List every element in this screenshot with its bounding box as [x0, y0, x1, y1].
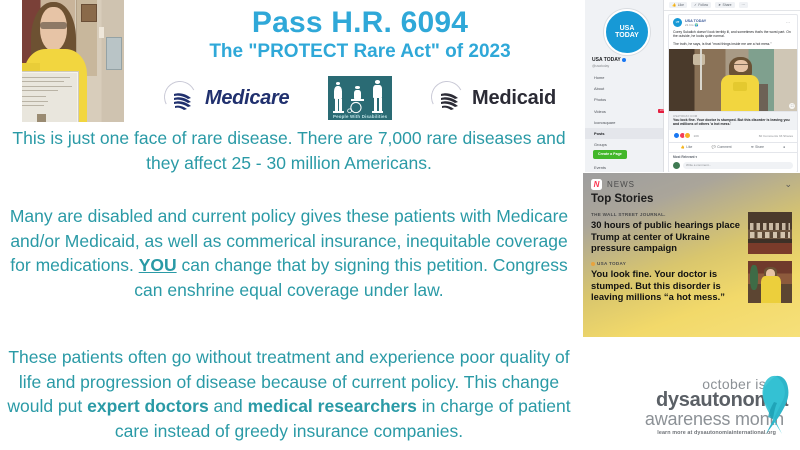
post-text-line-2: The truth, he says, is that "most things… [669, 41, 797, 49]
post-action-bar: 👍Like 💬Comment ➥Share ● [669, 143, 797, 153]
news-story-headline: You look fine. Your doctor is stumped. B… [591, 268, 741, 303]
thumbs-up-icon: 👍 [681, 145, 685, 149]
care-reaction-icon [684, 132, 691, 139]
news-story-source: USA TODAY [591, 261, 741, 266]
facebook-feed: UT USA TODAY 21 hrs 🌍 ⋯ Corey Sukalich d… [664, 12, 800, 172]
post-like-button[interactable]: 👍Like [681, 145, 693, 149]
post-send-button[interactable]: ● [783, 145, 785, 149]
news-widget-header: N NEWS ⌄ [583, 173, 800, 192]
agency-logo-row: Medicare People With Disabilities [150, 74, 570, 122]
post-menu-icon[interactable]: ⋯ [786, 20, 793, 25]
fb-like-page-button[interactable]: 👍Like [669, 2, 687, 8]
comment-input[interactable]: Write a comment... [683, 162, 793, 169]
top-stories-title: Top Stories [583, 192, 800, 209]
post-avatar: UT [673, 18, 682, 27]
comment-sort-selector[interactable]: Most Relevant ▾ [669, 153, 797, 161]
awareness-ribbon-icon [754, 374, 798, 436]
create-a-page-button[interactable]: Create a Page [593, 150, 627, 159]
fb-nav-label: Home [594, 75, 604, 80]
fb-nav-item-groups[interactable]: Groups [585, 139, 663, 150]
story-thumbnail[interactable] [748, 212, 792, 254]
apple-news-icon: N [591, 179, 602, 190]
page-handle: @usatoday [592, 64, 609, 68]
paragraph-two: Many are disabled and current policy giv… [0, 204, 578, 302]
fb-nav-item-videos[interactable]: VideosLIVE [585, 106, 663, 117]
fb-nav-item-iconosquare[interactable]: Iconosquare [585, 117, 663, 128]
medicaid-logo: Medicaid [431, 79, 556, 117]
facebook-screenshot: 👍Like ✓Follow ➤Share ··· USA TODAY USA T… [585, 0, 800, 172]
news-story-text: USA TODAYYou look fine. Your doctor is s… [591, 261, 741, 303]
paragraph-three-mid: and [209, 396, 248, 416]
facebook-page-actionbar: 👍Like ✓Follow ➤Share ··· [663, 0, 800, 11]
viewer-avatar [673, 162, 680, 169]
share-arrow-icon: ➥ [751, 145, 754, 149]
post-header: UT USA TODAY 21 hrs 🌍 ⋯ [669, 15, 797, 28]
news-story-list: THE WALL STREET JOURNAL.30 hours of publ… [583, 209, 800, 307]
apple-news-widget: N NEWS ⌄ Top Stories THE WALL STREET JOU… [583, 173, 800, 337]
post-share-button[interactable]: ➥Share [751, 145, 764, 149]
dysautonomia-awareness-logo: october is dysautonomia awareness month … [600, 372, 800, 442]
post-link-preview[interactable]: USATODAY.COM You look fine. Your doctor … [669, 111, 797, 130]
paragraph-one: This is just one face of rare disease. T… [0, 126, 578, 175]
fb-nav-item-photos[interactable]: Photos [585, 94, 663, 105]
post-timestamp: 21 hrs 🌍 [685, 23, 706, 27]
thumbs-up-icon: 👍 [672, 3, 676, 7]
comments-shares-count[interactable]: 60 Comments 33 Shares [759, 134, 793, 138]
paragraph-three-bold1: expert doctors [87, 396, 209, 416]
news-story-source: THE WALL STREET JOURNAL. [591, 212, 741, 217]
poster-canvas: Pass H.R. 6094 The "PROTECT Rare Act" of… [0, 0, 800, 450]
fb-share-page-button[interactable]: ➤Share [715, 2, 734, 8]
people-with-disabilities-badge: People With Disabilities [328, 76, 392, 120]
follow-icon: ✓ [694, 3, 697, 7]
fb-nav-item-posts[interactable]: Posts [585, 128, 663, 139]
link-headline: You look fine. Your doctor is stumped. B… [673, 118, 793, 127]
messenger-icon: ● [783, 145, 785, 149]
source-dot-icon [591, 262, 595, 266]
usa-today-logo: USA TODAY [604, 9, 650, 55]
fb-follow-page-button[interactable]: ✓Follow [691, 2, 711, 8]
reaction-count[interactable]: 109 [694, 134, 699, 138]
facebook-post: UT USA TODAY 21 hrs 🌍 ⋯ Corey Sukalich d… [668, 14, 798, 172]
comment-bubble-icon: 💬 [712, 145, 716, 149]
page-title: Pass H.R. 6094 [150, 6, 570, 40]
news-app-label: NEWS [607, 180, 635, 189]
medicaid-label: Medicaid [472, 87, 556, 110]
medicare-label: Medicare [205, 87, 289, 110]
share-icon: ➤ [718, 3, 721, 7]
post-reaction-bar: 109 60 Comments 33 Shares [669, 130, 797, 143]
news-story-text: THE WALL STREET JOURNAL.30 hours of publ… [591, 212, 741, 254]
patient-photo [22, 0, 124, 122]
fb-nav-label: Posts [594, 131, 605, 136]
paragraph-two-emphasis: YOU [139, 255, 177, 275]
post-text-line-1: Corey Sukalich doesn't look terribly ill… [669, 28, 797, 41]
facebook-page-sidebar: USA TODAY USA TODAY @usatoday HomeAboutP… [585, 0, 664, 172]
hhs-eagle-icon [164, 79, 202, 117]
fb-nav-label: Events [594, 165, 606, 170]
post-comment-button[interactable]: 💬Comment [712, 145, 732, 149]
chevron-down-icon[interactable]: ⌄ [784, 179, 792, 190]
hhs-eagle-icon-2 [431, 79, 469, 117]
paragraph-two-part2: can change that by signing this petition… [134, 255, 567, 300]
fb-nav-item-events[interactable]: Events [585, 162, 663, 173]
fb-nav-label: Videos [594, 109, 606, 114]
fb-nav-item-home[interactable]: Home [585, 72, 663, 83]
page-name: USA TODAY [592, 57, 626, 63]
fb-nav-label: Iconosquare [594, 120, 615, 125]
news-story-headline: 30 hours of public hearings place Trump … [591, 219, 741, 254]
medicare-logo: Medicare [164, 79, 289, 117]
pwd-caption: People With Disabilities [328, 114, 392, 119]
fb-nav-label: About [594, 86, 604, 91]
verified-badge-icon [622, 58, 626, 62]
paragraph-three: These patients often go without treatmen… [0, 345, 578, 443]
paragraph-three-bold2: medical researchers [248, 396, 417, 416]
news-story[interactable]: THE WALL STREET JOURNAL.30 hours of publ… [583, 209, 800, 258]
page-subtitle: The "PROTECT Rare Act" of 2023 [150, 41, 570, 63]
story-thumbnail[interactable] [748, 261, 792, 303]
expand-image-icon[interactable]: ⛶ [789, 103, 795, 109]
fb-more-button[interactable]: ··· [739, 2, 748, 8]
comment-composer[interactable]: Write a comment... [669, 161, 797, 172]
post-image[interactable]: ⛶ [669, 49, 797, 111]
fb-nav-label: Groups [594, 142, 607, 147]
fb-nav-label: Photos [594, 97, 606, 102]
fb-nav-item-about[interactable]: About [585, 83, 663, 94]
news-story[interactable]: USA TODAYYou look fine. Your doctor is s… [583, 258, 800, 307]
